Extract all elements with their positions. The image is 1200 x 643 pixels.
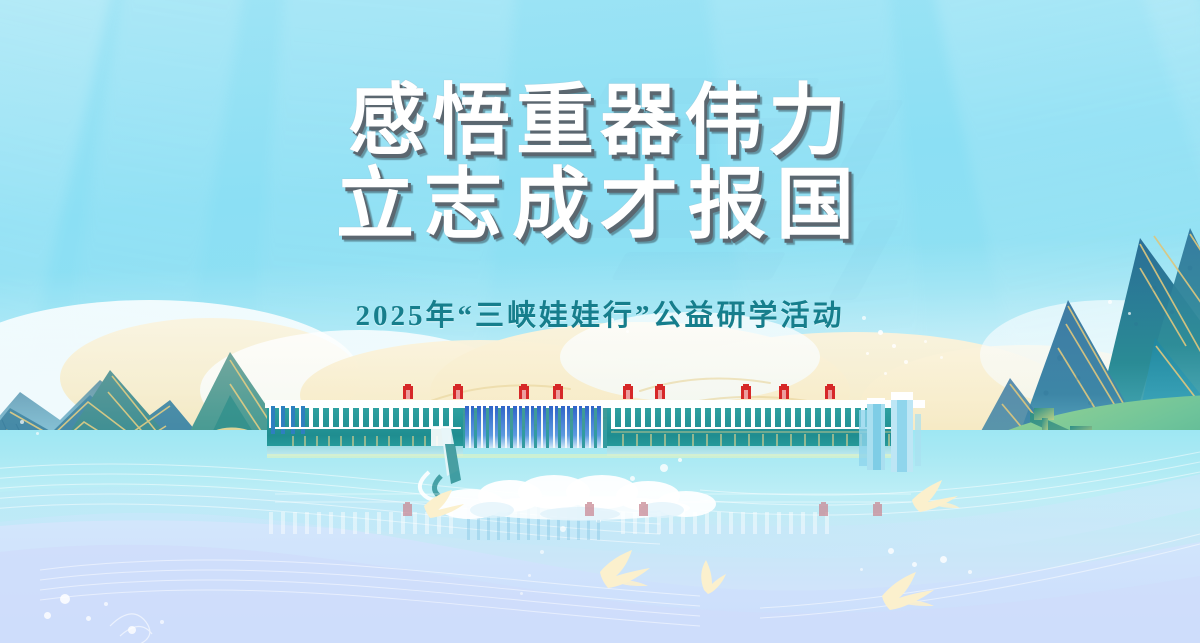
- poster-canvas: 感悟重器伟力 立志成才报国 2025年“三峡娃娃行”公益研学活动: [0, 0, 1200, 643]
- poster-title: 感悟重器伟力 立志成才报国: [0, 78, 1200, 246]
- title-line-1: 感悟重器伟力: [0, 78, 1200, 162]
- poster-subtitle: 2025年“三峡娃娃行”公益研学活动: [0, 292, 1200, 334]
- title-line-2: 立志成才报国: [0, 162, 1200, 246]
- bird-icon: [420, 488, 466, 527]
- bird-icon: [596, 548, 652, 597]
- bird-icon: [908, 478, 962, 523]
- bird-icon: [692, 556, 728, 601]
- bird-icon: [876, 570, 936, 621]
- gantry-cranes: [403, 384, 835, 399]
- gantry-reflections: [255, 500, 945, 529]
